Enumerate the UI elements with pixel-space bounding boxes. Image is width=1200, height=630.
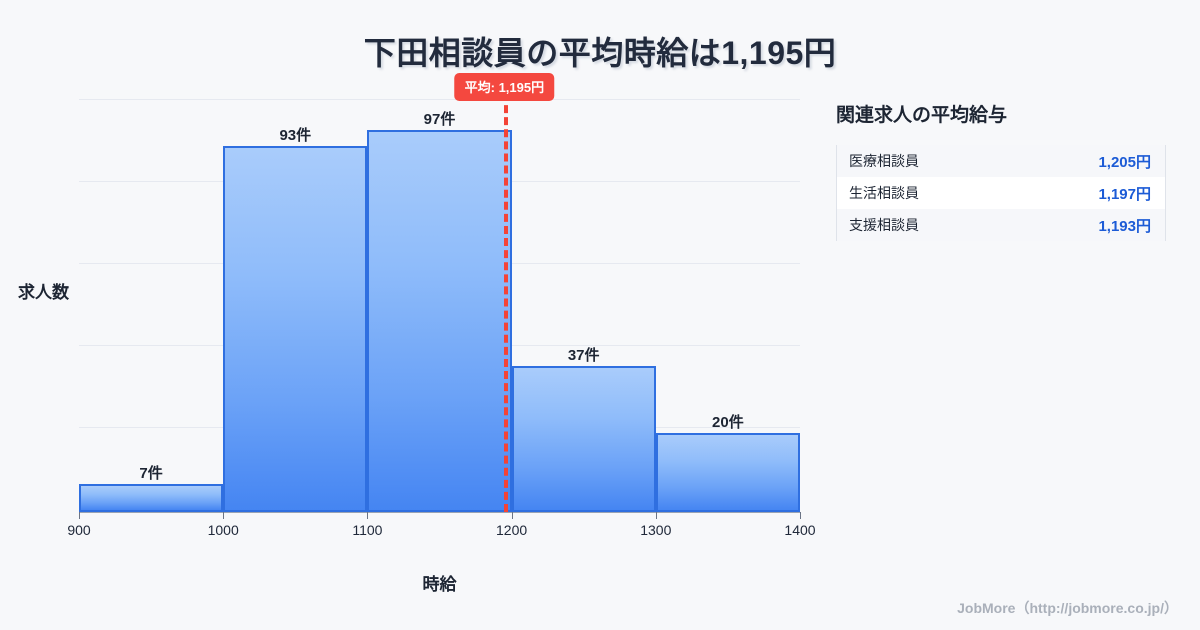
- histogram-bar[interactable]: [656, 433, 800, 512]
- x-axis-tick: [79, 512, 80, 519]
- related-jobs-table: 医療相談員 1,205円 生活相談員 1,197円 支援相談員 1,193円: [836, 145, 1166, 241]
- x-axis-tick-label: 900: [67, 522, 90, 538]
- bar-value-label: 97件: [424, 108, 456, 129]
- x-axis-tick-label: 1300: [640, 522, 671, 538]
- x-axis-tick: [512, 512, 513, 519]
- bar-value-label: 20件: [712, 411, 744, 432]
- footer-attribution: JobMore（http://jobmore.co.jp/）: [957, 598, 1178, 618]
- x-axis: 90010001100120013001400: [79, 512, 800, 513]
- related-job-salary: 1,205円: [1098, 151, 1151, 172]
- x-axis-tick-label: 1200: [496, 522, 527, 538]
- bar-value-label: 93件: [279, 124, 311, 145]
- x-axis-tick-label: 1400: [784, 522, 815, 538]
- related-job-name: 支援相談員: [849, 215, 919, 235]
- related-job-salary: 1,197円: [1098, 183, 1151, 204]
- related-jobs-panel: 関連求人の平均給与 医療相談員 1,205円 生活相談員 1,197円 支援相談…: [836, 100, 1166, 241]
- histogram-bar[interactable]: [512, 366, 656, 512]
- histogram-bar[interactable]: [79, 484, 223, 512]
- mean-line: [504, 93, 508, 512]
- histogram-bar[interactable]: [367, 130, 511, 512]
- x-axis-title: 時給: [79, 570, 800, 595]
- table-row[interactable]: 支援相談員 1,193円: [837, 209, 1165, 241]
- x-axis-tick: [367, 512, 368, 519]
- x-axis-tick-label: 1000: [208, 522, 239, 538]
- x-axis-tick-label: 1100: [352, 522, 382, 538]
- related-job-name: 医療相談員: [849, 151, 919, 171]
- histogram-bar[interactable]: [223, 146, 367, 512]
- related-job-salary: 1,193円: [1098, 215, 1151, 236]
- x-axis-tick: [223, 512, 224, 519]
- table-row[interactable]: 生活相談員 1,197円: [837, 177, 1165, 209]
- table-row[interactable]: 医療相談員 1,205円: [837, 145, 1165, 177]
- gridline: [79, 99, 800, 100]
- bar-value-label: 37件: [568, 344, 600, 365]
- page-title: 下田相談員の平均時給は1,195円: [0, 28, 1200, 74]
- y-axis-title: 求人数: [18, 278, 69, 303]
- chart-plot-area: 7件 93件 97件 37件 20件 平均: 1,195円: [79, 99, 800, 512]
- mean-badge: 平均: 1,195円: [455, 73, 554, 101]
- x-axis-tick: [800, 512, 801, 519]
- bar-value-label: 7件: [139, 462, 162, 483]
- x-axis-tick: [656, 512, 657, 519]
- related-jobs-title: 関連求人の平均給与: [836, 100, 1166, 127]
- related-job-name: 生活相談員: [849, 183, 919, 203]
